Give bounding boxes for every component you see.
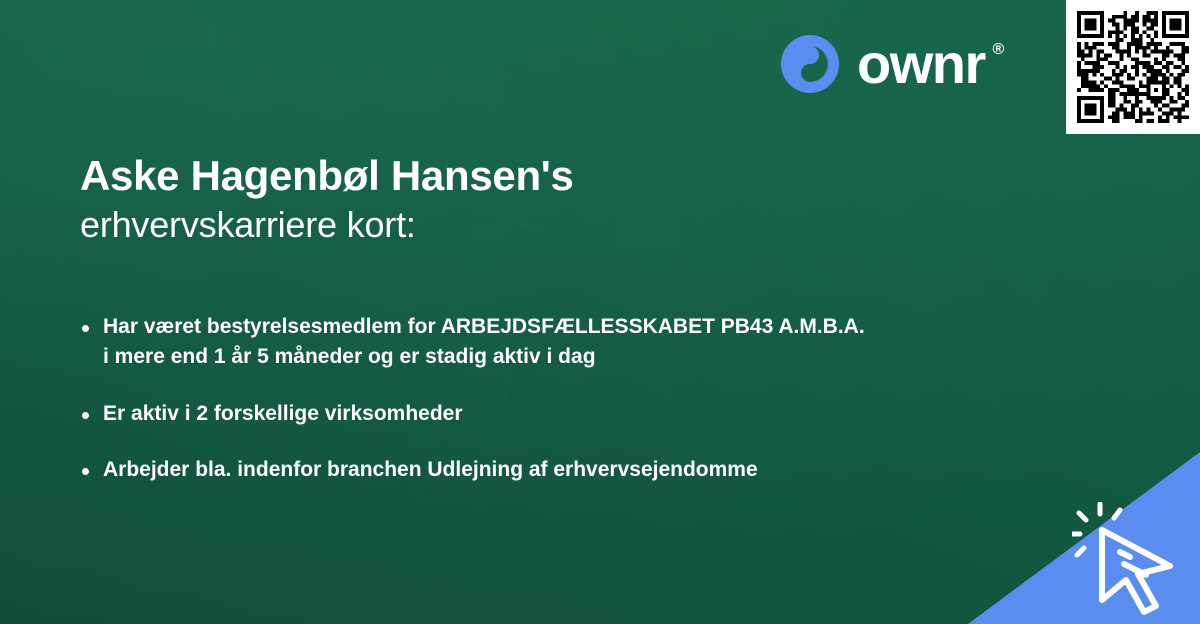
career-card: ownr ® Aske Hagenbøl Hansen's erhvervska… [0, 0, 1200, 624]
ownr-logo[interactable]: ownr ® [779, 33, 1003, 95]
qr-code[interactable] [1077, 11, 1189, 123]
subtitle: erhvervskarriere kort: [80, 203, 574, 246]
list-item: Har været bestyrelsesmedlem for ARBEJDSF… [82, 312, 1082, 373]
list-item-continuation: i mere end 1 år 5 måneder og er stadig a… [103, 342, 1082, 372]
bullet-dot-icon [82, 468, 89, 475]
mouse-cursor-click-icon [1072, 502, 1192, 622]
list-item: Arbejder bla. indenfor branchen Udlejnin… [82, 455, 1082, 485]
list-item-line: Arbejder bla. indenfor branchen Udlejnin… [103, 458, 758, 481]
registered-trademark-icon: ® [992, 42, 1002, 58]
bullet-dot-icon [82, 412, 89, 419]
list-item-text: Er aktiv i 2 forskellige virksomheder [103, 399, 1082, 429]
ownr-wordmark: ownr ® [857, 36, 1003, 92]
list-item-line: Er aktiv i 2 forskellige virksomheder [103, 402, 463, 425]
list-item-line: Har været bestyrelsesmedlem for ARBEJDSF… [103, 315, 865, 338]
person-name: Aske Hagenbøl Hansen's [80, 152, 574, 199]
list-item-text: Arbejder bla. indenfor branchen Udlejnin… [103, 455, 1082, 485]
qr-code-panel[interactable] [1066, 0, 1200, 134]
ownr-swirl-logo-icon [779, 33, 841, 95]
career-highlights-list: Har været bestyrelsesmedlem for ARBEJDSF… [82, 312, 1082, 486]
list-item: Er aktiv i 2 forskellige virksomheder [82, 399, 1082, 429]
ownr-wordmark-text: ownr [857, 32, 985, 95]
list-item-text: Har været bestyrelsesmedlem for ARBEJDSF… [103, 312, 1082, 373]
bullet-dot-icon [82, 325, 89, 332]
page-title: Aske Hagenbøl Hansen's erhvervskarriere … [80, 152, 574, 246]
